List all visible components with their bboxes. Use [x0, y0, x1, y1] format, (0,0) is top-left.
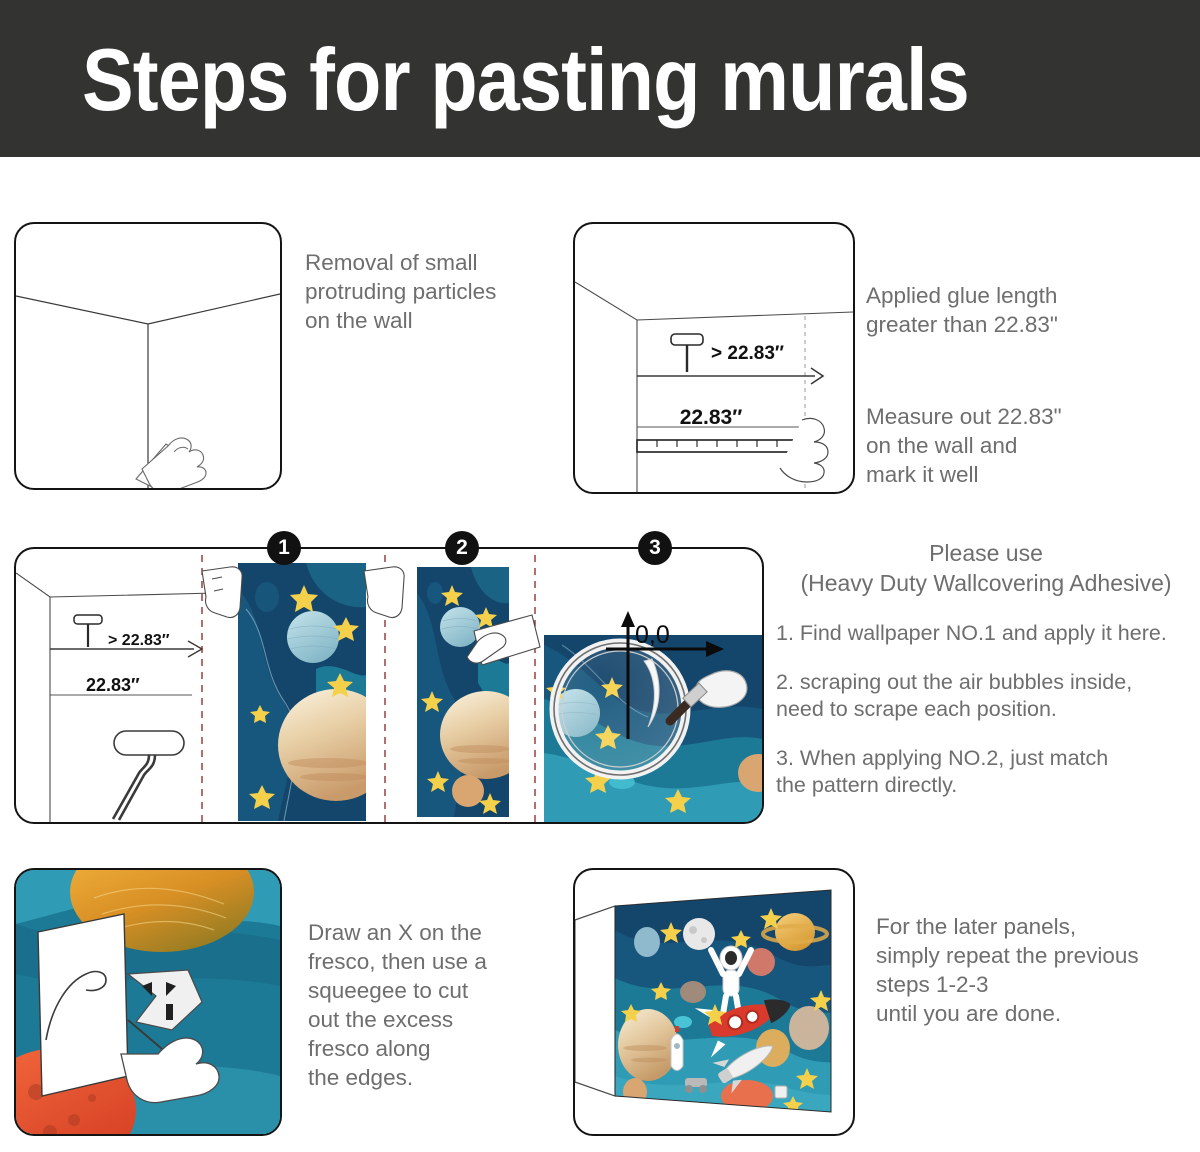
svg-text:> 22.83″: > 22.83″	[108, 632, 170, 649]
svg-text:22.83″: 22.83″	[86, 675, 140, 695]
page-title: Steps for pasting murals	[82, 34, 969, 126]
panel-measure-wall: 22.83″ > 22.83″	[573, 222, 855, 494]
hands-holding-strip	[202, 567, 242, 618]
panel-wall-preparation	[14, 222, 282, 490]
instruction-item-1: 1. Find wallpaper NO.1 and apply it here…	[776, 620, 1196, 647]
panel-finished-mural	[573, 868, 855, 1136]
instructions-block: Please use (Heavy Duty Wallcovering Adhe…	[776, 538, 1196, 799]
infographic-page: Steps for pasting murals Removal of smal…	[0, 0, 1200, 1152]
mural-strip-2	[417, 567, 532, 817]
panel-cut-excess	[14, 868, 282, 1136]
instructions-heading-line1: Please use	[776, 538, 1196, 568]
caption-cut-excess: Draw an X on the fresco, then use a sque…	[308, 918, 558, 1092]
instruction-item-2: 2. scraping out the air bubbles inside, …	[776, 669, 1196, 723]
step-badge-1: 1	[267, 531, 301, 565]
finished-mural-illustration	[575, 870, 853, 1134]
cut-excess-illustration	[16, 870, 280, 1134]
label-glue-length: > 22.83″	[711, 343, 784, 364]
steps-illustration: 22.83″ > 22.83″	[16, 549, 762, 822]
wall-with-roller: 22.83″ > 22.83″	[16, 573, 216, 822]
caption-measure-mark: Measure out 22.83" on the wall and mark …	[866, 402, 1166, 489]
magnifier-icon	[554, 643, 686, 775]
panel-numbered-steps: 22.83″ > 22.83″	[14, 547, 764, 824]
caption-wall-preparation: Removal of small protruding particles on…	[305, 248, 560, 335]
label-measure-inches: 22.83″	[680, 406, 743, 429]
caption-finished-mural: For the later panels, simply repeat the …	[876, 912, 1196, 1028]
step-badge-2: 2	[445, 531, 479, 565]
hand-right-strip	[364, 567, 404, 618]
instruction-item-3: 3. When applying NO.2, just match the pa…	[776, 745, 1196, 799]
wall-corner-illustration	[16, 224, 280, 488]
measure-wall-illustration: 22.83″ > 22.83″	[575, 224, 853, 492]
step-badge-3: 3	[638, 531, 672, 565]
label-origin: 0,0	[635, 621, 670, 649]
page-header: Steps for pasting murals	[0, 0, 1200, 157]
caption-glue-length: Applied glue length greater than 22.83"	[866, 281, 1166, 339]
instructions-heading-line2: (Heavy Duty Wallcovering Adhesive)	[776, 568, 1196, 598]
